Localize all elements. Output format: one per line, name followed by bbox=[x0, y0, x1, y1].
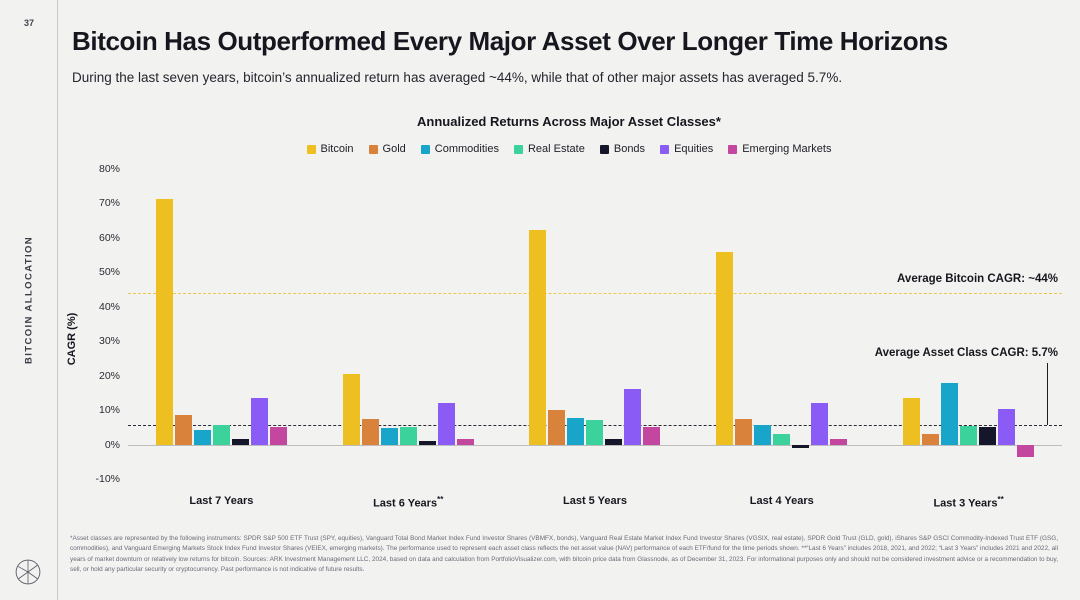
chart-legend: BitcoinGoldCommoditiesReal EstateBondsEq… bbox=[58, 143, 1080, 155]
ark-logo-icon bbox=[14, 558, 42, 586]
legend-swatch-icon bbox=[600, 145, 609, 154]
bar-bitcoin[interactable] bbox=[156, 199, 173, 445]
legend-swatch-icon bbox=[660, 145, 669, 154]
legend-label: Emerging Markets bbox=[742, 143, 831, 155]
page-subtitle: During the last seven years, bitcoin’s a… bbox=[72, 70, 1052, 85]
page-number: 37 bbox=[0, 18, 58, 28]
bar-equities[interactable] bbox=[438, 403, 455, 445]
legend-item-equities[interactable]: Equities bbox=[660, 143, 713, 155]
legend-swatch-icon bbox=[514, 145, 523, 154]
y-axis-tick: -10% bbox=[70, 473, 120, 485]
legend-swatch-icon bbox=[369, 145, 378, 154]
legend-swatch-icon bbox=[307, 145, 316, 154]
bar-commodities[interactable] bbox=[194, 430, 211, 444]
x-axis-label: Last 4 Years bbox=[688, 495, 875, 507]
bar-bonds[interactable] bbox=[419, 441, 436, 444]
plot-area: 80%70%60%50%40%30%20%10%0%-10% Average B… bbox=[128, 169, 1062, 479]
bar-equities[interactable] bbox=[624, 389, 641, 444]
bar-bonds[interactable] bbox=[232, 439, 249, 445]
bar-bonds[interactable] bbox=[979, 427, 996, 444]
bar-group: Last 6 Years** bbox=[315, 169, 502, 479]
bar-equities[interactable] bbox=[811, 403, 828, 445]
bar-group: Last 5 Years bbox=[502, 169, 689, 479]
bar-emerging-markets[interactable] bbox=[643, 427, 660, 444]
bar-emerging-markets[interactable] bbox=[1017, 445, 1034, 457]
legend-label: Gold bbox=[383, 143, 406, 155]
bar-gold[interactable] bbox=[362, 419, 379, 445]
bar-gold[interactable] bbox=[735, 419, 752, 444]
y-axis-tick: 70% bbox=[70, 197, 120, 209]
bar-bitcoin[interactable] bbox=[343, 374, 360, 445]
bar-gold[interactable] bbox=[548, 410, 565, 444]
bar-real-estate[interactable] bbox=[586, 420, 603, 445]
legend-item-real-estate[interactable]: Real Estate bbox=[514, 143, 585, 155]
chart-container: Annualized Returns Across Major Asset Cl… bbox=[58, 108, 1080, 528]
y-axis-tick: 50% bbox=[70, 266, 120, 278]
legend-label: Real Estate bbox=[528, 143, 585, 155]
bar-group: Last 7 Years bbox=[128, 169, 315, 479]
bar-real-estate[interactable] bbox=[960, 426, 977, 445]
bar-commodities[interactable] bbox=[567, 418, 584, 444]
bar-equities[interactable] bbox=[998, 409, 1015, 445]
y-axis-tick: 60% bbox=[70, 232, 120, 244]
bar-bonds[interactable] bbox=[792, 445, 809, 449]
bar-real-estate[interactable] bbox=[773, 434, 790, 444]
legend-label: Commodities bbox=[435, 143, 499, 155]
bar-emerging-markets[interactable] bbox=[457, 439, 474, 444]
page-title: Bitcoin Has Outperformed Every Major Ass… bbox=[72, 26, 1052, 57]
legend-swatch-icon bbox=[728, 145, 737, 154]
bar-groups: Last 7 YearsLast 6 Years**Last 5 YearsLa… bbox=[128, 169, 1062, 479]
x-axis-label: Last 5 Years bbox=[502, 495, 689, 507]
bar-group: Last 4 Years bbox=[688, 169, 875, 479]
y-axis-tick: 10% bbox=[70, 404, 120, 416]
legend-swatch-icon bbox=[421, 145, 430, 154]
y-axis-tick: 30% bbox=[70, 335, 120, 347]
left-rail: 37 BITCOIN ALLOCATION bbox=[0, 0, 58, 600]
legend-label: Equities bbox=[674, 143, 713, 155]
legend-item-bonds[interactable]: Bonds bbox=[600, 143, 645, 155]
legend-item-gold[interactable]: Gold bbox=[369, 143, 406, 155]
x-axis-label: Last 6 Years** bbox=[315, 495, 502, 510]
legend-item-commodities[interactable]: Commodities bbox=[421, 143, 499, 155]
y-axis-tick: 20% bbox=[70, 370, 120, 382]
bar-commodities[interactable] bbox=[941, 383, 958, 445]
bar-commodities[interactable] bbox=[754, 425, 771, 444]
x-axis-label: Last 3 Years** bbox=[875, 495, 1062, 510]
legend-label: Bonds bbox=[614, 143, 645, 155]
plot-wrapper: CAGR (%) 80%70%60%50%40%30%20%10%0%-10% … bbox=[58, 169, 1080, 509]
bar-group: Last 3 Years** bbox=[875, 169, 1062, 479]
bar-real-estate[interactable] bbox=[213, 425, 230, 444]
bar-bitcoin[interactable] bbox=[529, 230, 546, 444]
bar-commodities[interactable] bbox=[381, 428, 398, 444]
chart-title: Annualized Returns Across Major Asset Cl… bbox=[58, 114, 1080, 129]
x-axis-label: Last 7 Years bbox=[128, 495, 315, 507]
bar-gold[interactable] bbox=[175, 415, 192, 445]
bar-real-estate[interactable] bbox=[400, 427, 417, 445]
legend-item-emerging-markets[interactable]: Emerging Markets bbox=[728, 143, 831, 155]
footnote: *Asset classes are represented by the fo… bbox=[70, 534, 1058, 576]
section-label: BITCOIN ALLOCATION bbox=[23, 236, 34, 364]
bar-equities[interactable] bbox=[251, 398, 268, 445]
bar-bitcoin[interactable] bbox=[716, 252, 733, 444]
bar-gold[interactable] bbox=[922, 434, 939, 444]
bar-bitcoin[interactable] bbox=[903, 398, 920, 445]
y-axis-tick: 40% bbox=[70, 301, 120, 313]
y-axis-tick: 80% bbox=[70, 163, 120, 175]
legend-item-bitcoin[interactable]: Bitcoin bbox=[307, 143, 354, 155]
legend-label: Bitcoin bbox=[321, 143, 354, 155]
y-axis-tick: 0% bbox=[70, 439, 120, 451]
bar-emerging-markets[interactable] bbox=[270, 427, 287, 445]
bar-bonds[interactable] bbox=[605, 439, 622, 444]
bar-emerging-markets[interactable] bbox=[830, 439, 847, 444]
